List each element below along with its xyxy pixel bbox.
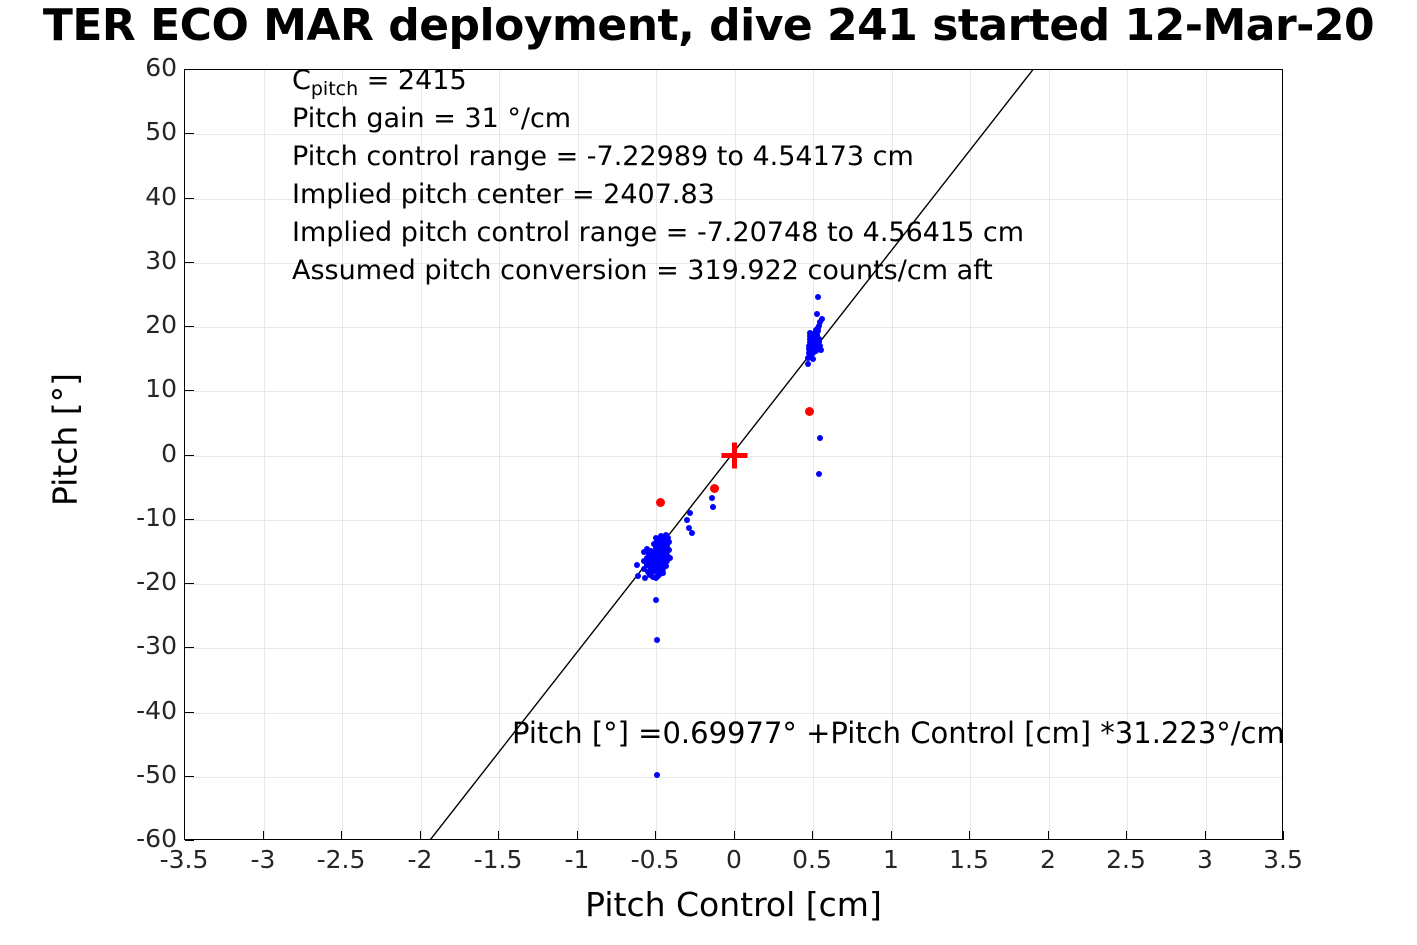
y-tick-label: 30 [57, 246, 177, 275]
x-tick [1283, 831, 1284, 840]
y-tick-label: 60 [57, 53, 177, 82]
fit-equation-text: Pitch [°] =0.69977° +Pitch Control [cm] … [512, 716, 1285, 750]
y-tick-label: 40 [57, 182, 177, 211]
annotation-line: Cpitch = 2415 [292, 62, 1024, 100]
y-tick-label: 10 [57, 374, 177, 403]
annotation-line: Pitch gain = 31 °/cm [292, 100, 1024, 138]
y-tick-label: -10 [57, 503, 177, 532]
center-plus-marker [722, 443, 748, 469]
x-tick-label: 3.5 [1223, 845, 1343, 874]
annotation-line: Implied pitch control range = -7.20748 t… [292, 214, 1024, 252]
y-tick-label: -20 [57, 567, 177, 596]
y-tick-label: -50 [57, 760, 177, 789]
y-tick [185, 840, 194, 841]
figure-canvas: TER ECO MAR deployment, dive 241 started… [0, 0, 1417, 945]
annotation-line: Assumed pitch conversion = 319.922 count… [292, 252, 1024, 290]
y-tick-label: -60 [57, 824, 177, 853]
annotation-block: Cpitch = 2415Pitch gain = 31 °/cmPitch c… [292, 62, 1024, 290]
plot-title-text: TER ECO MAR deployment, dive 241 started… [43, 0, 1374, 54]
annotation-line: Pitch control range = -7.22989 to 4.5417… [292, 138, 1024, 176]
y-tick-label: 0 [57, 439, 177, 468]
annotation-symbol: C [292, 65, 311, 96]
annotation-value: = 2415 [358, 65, 467, 96]
x-axis-label: Pitch Control [cm] [184, 885, 1283, 924]
y-tick-label: 20 [57, 310, 177, 339]
y-tick-label: -40 [57, 696, 177, 725]
annotation-line: Implied pitch center = 2407.83 [292, 176, 1024, 214]
y-tick-label: -30 [57, 631, 177, 660]
annotation-subscript: pitch [311, 78, 358, 100]
plot-title: TER ECO MAR deployment, dive 241 started… [0, 0, 1417, 54]
y-tick-label: 50 [57, 117, 177, 146]
